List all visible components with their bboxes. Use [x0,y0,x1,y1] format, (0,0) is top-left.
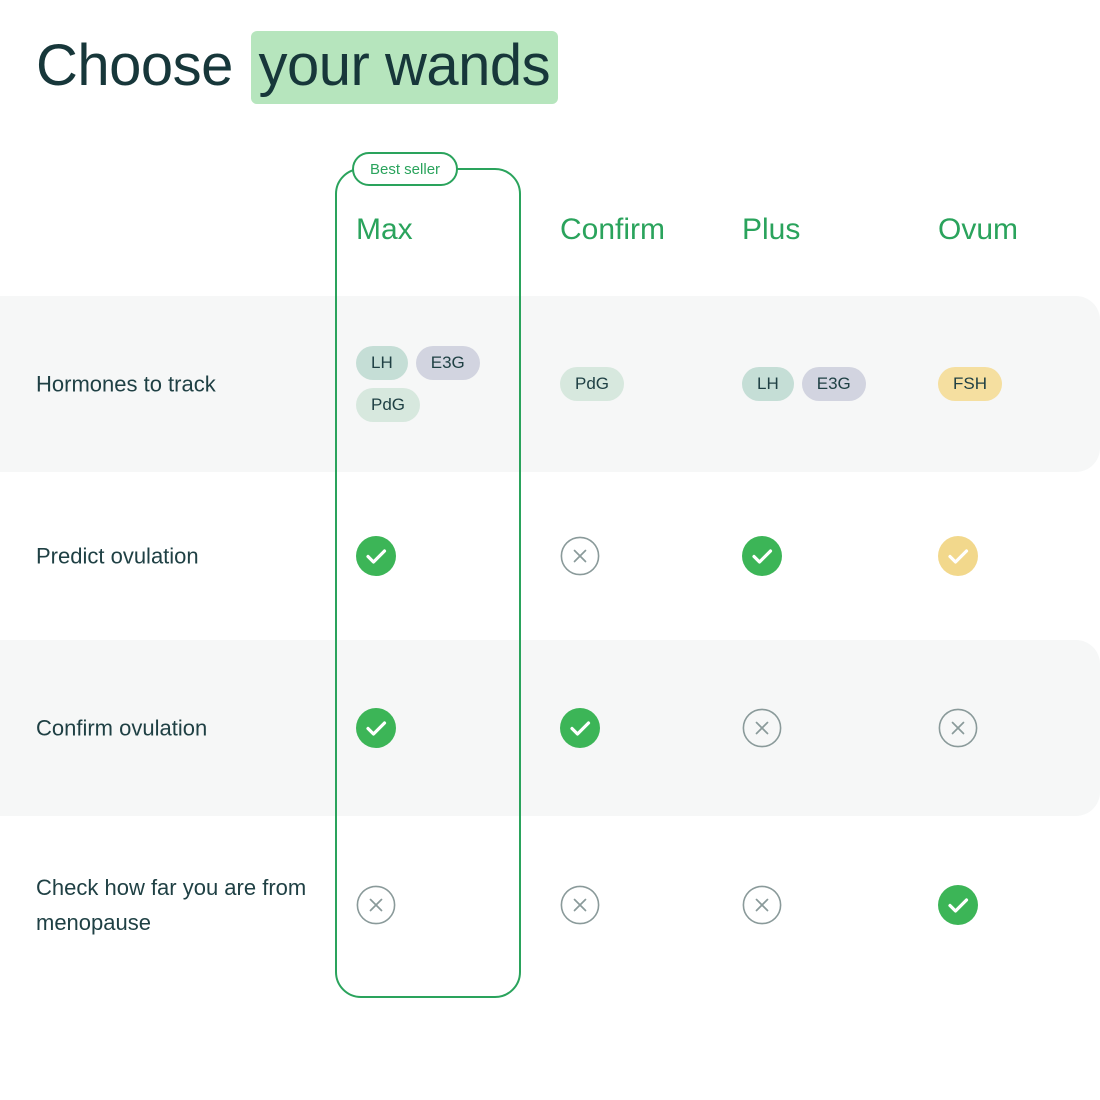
check-circle-green-icon [560,708,600,748]
cell-confirm-predict-ovulation [560,536,746,576]
check-circle-green-icon [742,536,782,576]
column-header-ovum[interactable]: Ovum [938,210,1018,250]
hormone-tag-pdg: PdG [560,367,624,401]
cell-max-check-menopause [356,885,542,925]
hormone-tag-lh: LH [356,346,408,380]
row-label-predict-ovulation: Predict ovulation [36,539,316,574]
best-seller-badge: Best seller [352,152,458,186]
best-seller-badge-label: Best seller [370,162,440,177]
column-header-plus[interactable]: Plus [742,210,800,250]
cross-circle-gray-icon [560,885,600,925]
column-header-max[interactable]: Max [356,210,413,250]
hormone-tag-pdg: PdG [356,388,420,422]
row-label-confirm-ovulation: Confirm ovulation [36,711,316,746]
row-label-hormones-to-track: Hormones to track [36,367,316,402]
check-circle-green-icon [356,536,396,576]
table-row: Confirm ovulation [0,640,1100,816]
cell-ovum-confirm-ovulation [938,708,1100,748]
cell-ovum-predict-ovulation [938,536,1100,576]
table-header-row: Max Confirm Plus Ovum [0,210,1100,296]
cell-confirm-confirm-ovulation [560,708,746,748]
page-title: Choose your wands [36,30,558,102]
cell-max-hormones: LH E3G PdG [356,346,542,422]
cell-plus-hormones: LH E3G [742,367,928,401]
table-row: Predict ovulation [0,472,1100,640]
cell-max-predict-ovulation [356,536,542,576]
hormone-tag-e3g: E3G [416,346,480,380]
check-circle-yellow-icon [938,536,978,576]
cell-max-confirm-ovulation [356,708,542,748]
cell-plus-predict-ovulation [742,536,928,576]
cell-plus-confirm-ovulation [742,708,928,748]
check-circle-green-icon [356,708,396,748]
hormone-tag-e3g: E3G [802,367,866,401]
page-title-lead: Choose [36,33,233,98]
cell-ovum-hormones: FSH [938,367,1100,401]
table-row: Hormones to track LH E3G PdG PdG LH E3G … [0,296,1100,472]
cross-circle-gray-icon [560,536,600,576]
cell-ovum-check-menopause [938,885,1100,925]
row-label-check-menopause: Check how far you are from menopause [36,870,316,940]
cell-plus-check-menopause [742,885,928,925]
column-header-confirm[interactable]: Confirm [560,210,665,250]
hormone-tag-lh: LH [742,367,794,401]
cross-circle-gray-icon [356,885,396,925]
cross-circle-gray-icon [938,708,978,748]
check-circle-green-icon [938,885,978,925]
hormone-tag-fsh: FSH [938,367,1002,401]
cell-confirm-hormones: PdG [560,367,746,401]
cell-confirm-check-menopause [560,885,746,925]
cross-circle-gray-icon [742,885,782,925]
cross-circle-gray-icon [742,708,782,748]
table-row: Check how far you are from menopause [0,816,1100,994]
page-title-highlight: your wands [251,31,559,104]
comparison-table: Best seller Max Confirm Plus Ovum Hormon… [0,150,1100,1010]
